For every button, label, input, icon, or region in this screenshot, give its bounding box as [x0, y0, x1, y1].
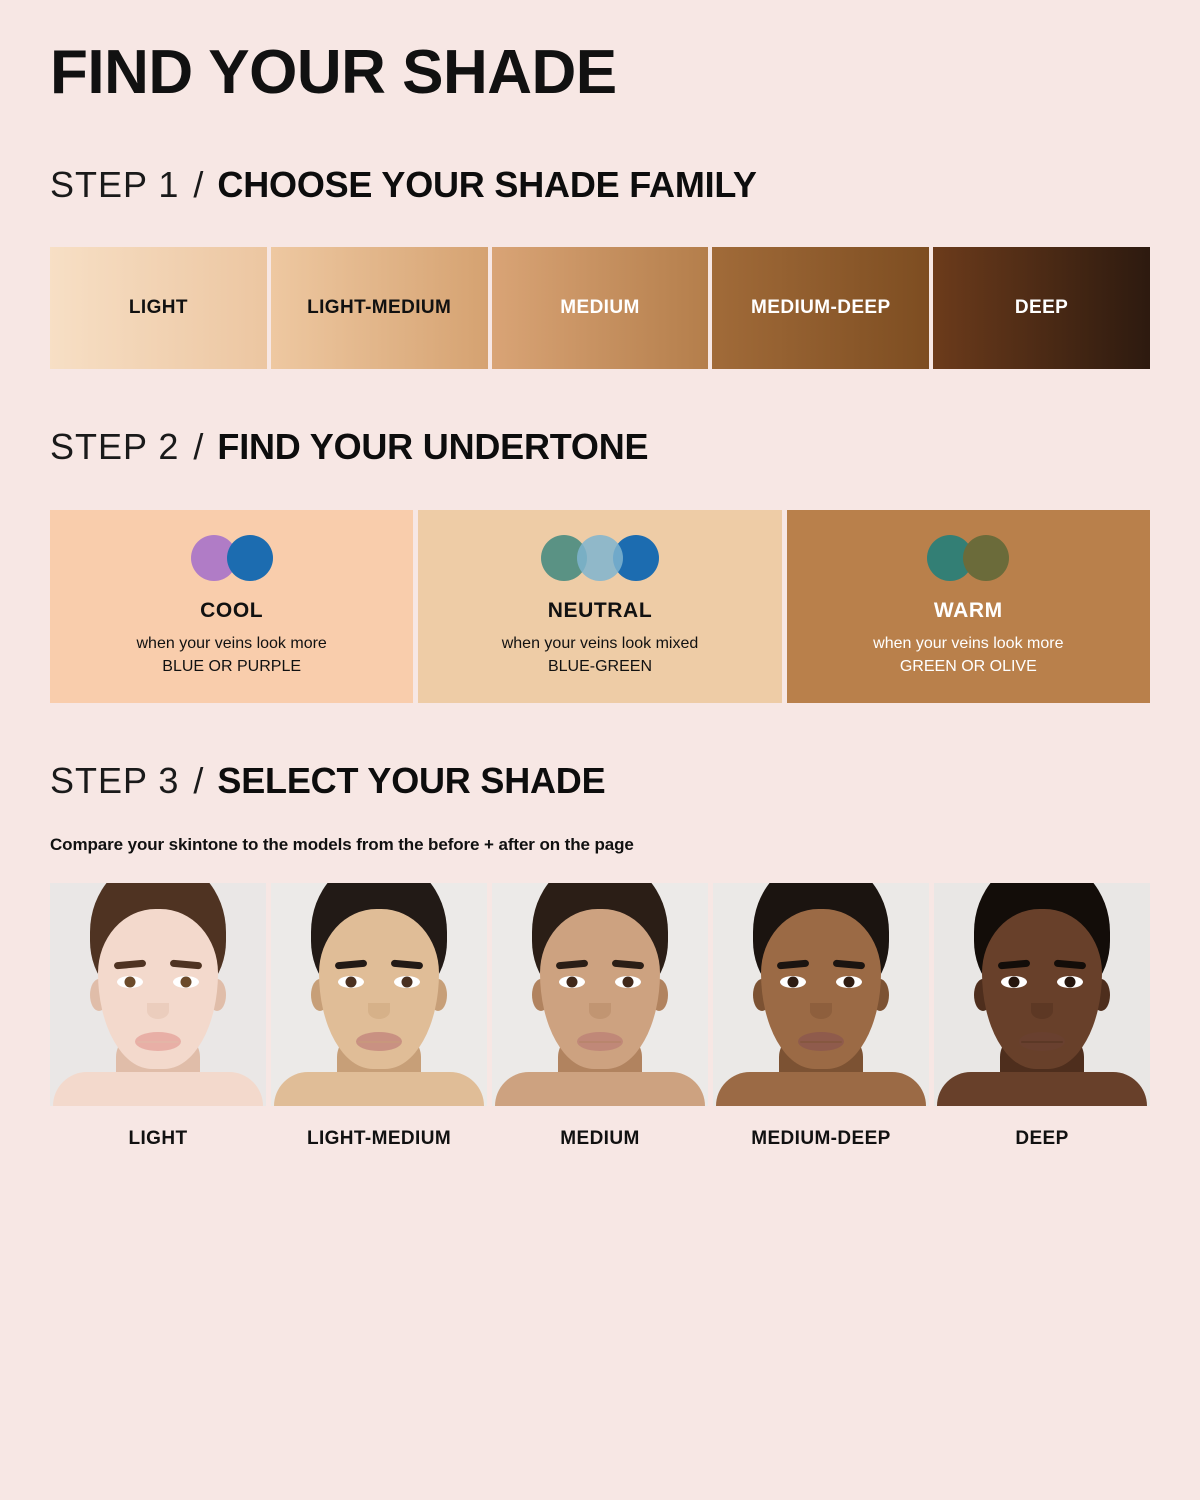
portrait-iris [181, 977, 192, 988]
undertone-description: when your veins look moreGREEN OR OLIVE [873, 632, 1063, 678]
step-1-title: CHOOSE YOUR SHADE FAMILY [217, 164, 756, 206]
undertone-dots [927, 535, 1009, 581]
undertone-dot-icon [963, 535, 1009, 581]
shade-swatch-label: LIGHT [129, 297, 188, 319]
portrait-iris [402, 977, 413, 988]
model-portrait-photo[interactable] [271, 883, 487, 1106]
portrait-illustration [713, 883, 929, 1106]
portrait-eye-right [836, 976, 862, 988]
step-1-number: STEP 1 [50, 164, 179, 206]
model-label: MEDIUM [560, 1128, 639, 1150]
portrait-nose [589, 1003, 611, 1019]
portrait-eye-left [559, 976, 585, 988]
step-3-title: SELECT YOUR SHADE [217, 760, 605, 802]
undertone-dot-icon [577, 535, 623, 581]
model-label: LIGHT-MEDIUM [307, 1128, 451, 1150]
shade-swatch-label: DEEP [1015, 297, 1068, 319]
portrait-iris [788, 977, 799, 988]
portrait-iris [1065, 977, 1076, 988]
shade-family-bar: LIGHTLIGHT-MEDIUMMEDIUMMEDIUM-DEEPDEEP [50, 247, 1150, 369]
portrait-eye-left [117, 976, 143, 988]
step-3-number: STEP 3 [50, 760, 179, 802]
shade-swatch-label: MEDIUM [560, 297, 639, 319]
shade-swatch-light[interactable]: LIGHT [50, 247, 267, 369]
portrait-nose [147, 1003, 169, 1019]
portrait-eye-left [780, 976, 806, 988]
portrait-lip-line [1021, 1041, 1063, 1043]
portrait-shoulders [716, 1072, 926, 1106]
portrait-nose [1031, 1003, 1053, 1019]
undertone-description-line-1: when your veins look more [873, 632, 1063, 655]
portrait-eye-left [1001, 976, 1027, 988]
undertone-dots [191, 535, 273, 581]
undertone-dots [541, 535, 659, 581]
portrait-eye-right [394, 976, 420, 988]
model-cell-light[interactable]: LIGHT [50, 883, 266, 1150]
shade-swatch-light-medium[interactable]: LIGHT-MEDIUM [271, 247, 488, 369]
undertone-description-line-1: when your veins look more [137, 632, 327, 655]
undertone-description: when your veins look moreBLUE OR PURPLE [137, 632, 327, 678]
portrait-lip-line [800, 1041, 842, 1043]
step-2-separator: / [179, 426, 217, 468]
portrait-eye-right [615, 976, 641, 988]
portrait-lip-line [579, 1041, 621, 1043]
model-label: DEEP [1015, 1128, 1068, 1150]
step-1-heading: STEP 1 / CHOOSE YOUR SHADE FAMILY [50, 104, 1150, 206]
shade-swatch-medium-deep[interactable]: MEDIUM-DEEP [712, 247, 929, 369]
model-portrait-photo[interactable] [713, 883, 929, 1106]
step-3-subtitle: Compare your skintone to the models from… [50, 835, 1150, 855]
portrait-iris [125, 977, 136, 988]
step-3-separator: / [179, 760, 217, 802]
undertone-card-cool[interactable]: COOLwhen your veins look moreBLUE OR PUR… [50, 510, 413, 703]
undertone-description-line-2: BLUE-GREEN [502, 655, 699, 678]
model-portrait-photo[interactable] [934, 883, 1150, 1106]
portrait-iris [1009, 977, 1020, 988]
step-3-heading: STEP 3 / SELECT YOUR SHADE [50, 703, 1150, 802]
undertone-name: WARM [934, 599, 1003, 623]
portrait-eye-right [173, 976, 199, 988]
shade-swatch-deep[interactable]: DEEP [933, 247, 1150, 369]
portrait-iris [567, 977, 578, 988]
model-portrait-photo[interactable] [50, 883, 266, 1106]
step-2-number: STEP 2 [50, 426, 179, 468]
model-cell-deep[interactable]: DEEP [934, 883, 1150, 1150]
model-label: MEDIUM-DEEP [751, 1128, 891, 1150]
portrait-iris [623, 977, 634, 988]
portrait-shoulders [53, 1072, 263, 1106]
portrait-nose [810, 1003, 832, 1019]
page-title: FIND YOUR SHADE [50, 0, 1150, 104]
portrait-illustration [934, 883, 1150, 1106]
undertone-name: COOL [200, 599, 263, 623]
portrait-illustration [492, 883, 708, 1106]
portrait-lip-line [137, 1041, 179, 1043]
step-2-title: FIND YOUR UNDERTONE [217, 426, 648, 468]
step-1-separator: / [179, 164, 217, 206]
shade-swatch-label: LIGHT-MEDIUM [307, 297, 451, 319]
portrait-illustration [271, 883, 487, 1106]
portrait-iris [844, 977, 855, 988]
portrait-eye-left [338, 976, 364, 988]
find-your-shade-page: FIND YOUR SHADE STEP 1 / CHOOSE YOUR SHA… [0, 0, 1200, 1500]
undertone-name: NEUTRAL [548, 599, 653, 623]
shade-swatch-medium[interactable]: MEDIUM [492, 247, 709, 369]
undertone-dot-icon [227, 535, 273, 581]
step-2-heading: STEP 2 / FIND YOUR UNDERTONE [50, 369, 1150, 468]
undertone-description-line-1: when your veins look mixed [502, 632, 699, 655]
portrait-shoulders [274, 1072, 484, 1106]
model-cell-medium[interactable]: MEDIUM [492, 883, 708, 1150]
model-portrait-photo[interactable] [492, 883, 708, 1106]
undertone-card-row: COOLwhen your veins look moreBLUE OR PUR… [50, 510, 1150, 703]
portrait-eye-right [1057, 976, 1083, 988]
model-label: LIGHT [129, 1128, 188, 1150]
portrait-illustration [50, 883, 266, 1106]
undertone-description-line-2: GREEN OR OLIVE [873, 655, 1063, 678]
undertone-card-neutral[interactable]: NEUTRALwhen your veins look mixedBLUE-GR… [418, 510, 781, 703]
model-cell-medium-deep[interactable]: MEDIUM-DEEP [713, 883, 929, 1150]
model-photo-row: LIGHTLIGHT-MEDIUMMEDIUMMEDIUM-DEEPDEEP [50, 883, 1150, 1150]
shade-swatch-label: MEDIUM-DEEP [751, 297, 891, 319]
portrait-nose [368, 1003, 390, 1019]
undertone-description-line-2: BLUE OR PURPLE [137, 655, 327, 678]
portrait-iris [346, 977, 357, 988]
portrait-shoulders [495, 1072, 705, 1106]
undertone-card-warm[interactable]: WARMwhen your veins look moreGREEN OR OL… [787, 510, 1150, 703]
model-cell-light-medium[interactable]: LIGHT-MEDIUM [271, 883, 487, 1150]
undertone-description: when your veins look mixedBLUE-GREEN [502, 632, 699, 678]
portrait-shoulders [937, 1072, 1147, 1106]
portrait-lip-line [358, 1041, 400, 1043]
